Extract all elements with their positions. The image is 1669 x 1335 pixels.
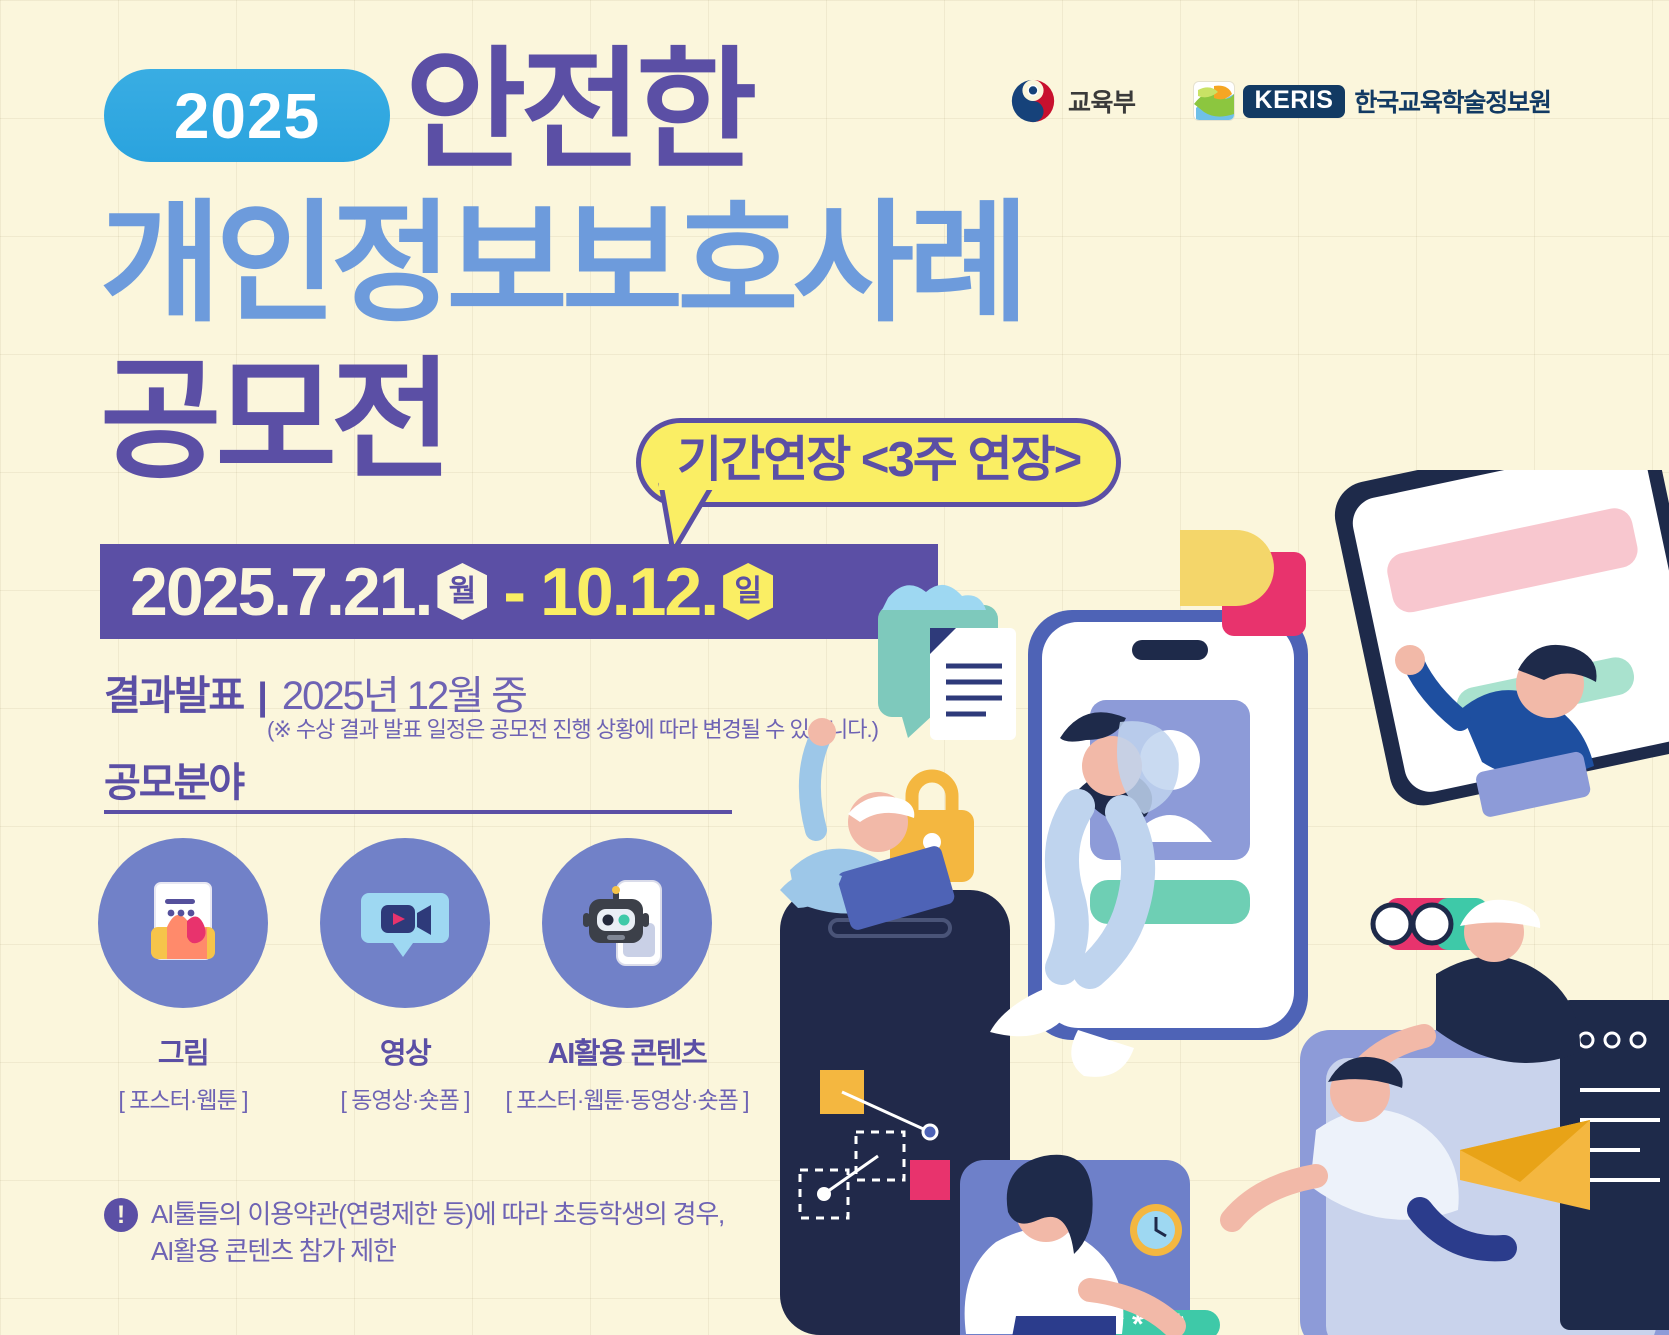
keris-logo: KERIS 한국교육학술정보원 <box>1194 82 1551 120</box>
field-label-drawing: 그림 <box>158 1030 208 1072</box>
start-date: 2025.7.21. <box>130 558 431 626</box>
document-chat-icon <box>878 585 1016 740</box>
warning-line-1: AI툴들의 이용약관(연령제한 등)에 따라 초등학생의 경우, <box>151 1199 724 1229</box>
logo-row: 교육부 KERIS 한국교육학술정보원 <box>1010 78 1551 124</box>
field-card-video: 영상 [ 동영상·숏폼 ] <box>320 838 490 1115</box>
result-label: 결과발표 <box>104 663 243 721</box>
field-sub-drawing: [ 포스터·웹툰 ] <box>118 1081 247 1115</box>
headline-line-3: 공모전 <box>100 355 446 487</box>
field-sub-video: [ 동영상·숏폼 ] <box>340 1081 469 1115</box>
ministry-of-education-logo: 교육부 <box>1010 78 1136 124</box>
taegeuk-icon <box>1010 78 1056 124</box>
exclamation-icon: ! <box>104 1198 138 1232</box>
year-label: 2025 <box>174 84 320 148</box>
keris-mark-icon <box>1194 82 1234 120</box>
video-camera-icon <box>320 838 490 1008</box>
illustration: * * * * <box>760 470 1669 1335</box>
keris-name-label: 한국교육학술정보원 <box>1354 83 1550 119</box>
ai-robot-phone-icon <box>542 838 712 1008</box>
keris-badge-label: KERIS <box>1243 85 1346 118</box>
fields-divider <box>104 810 732 814</box>
headline-line-1: 안전한 <box>405 45 751 177</box>
field-sub-ai: [ 포스터·웹툰·동영상·숏폼 ] <box>505 1081 748 1115</box>
poster-webtoon-icon <box>98 838 268 1008</box>
warning-note: ! AI툴들의 이용약관(연령제한 등)에 따라 초등학생의 경우, AI활용 … <box>104 1196 724 1270</box>
end-date: 10.12. <box>540 558 717 626</box>
start-weekday-badge: 월 <box>437 563 487 620</box>
field-card-ai: AI활용 콘텐츠 [ 포스터·웹툰·동영상·숏폼 ] <box>542 838 712 1115</box>
date-dash: - <box>503 558 526 626</box>
fields-card-row: 그림 [ 포스터·웹툰 ] 영상 [ 동영상·숏폼 ] <box>98 838 712 1115</box>
field-label-video: 영상 <box>380 1030 430 1072</box>
clock-icon-2 <box>1130 1204 1182 1256</box>
poster-root: 교육부 KERIS 한국교육학술정보원 2025 안전한 개인정보보호사례 공모… <box>0 0 1669 1335</box>
warning-line-2: AI활용 콘텐츠 참가 제한 <box>151 1236 396 1266</box>
year-badge: 2025 <box>104 69 390 162</box>
fields-title: 공모분야 <box>104 750 243 808</box>
ministry-name-label: 교육부 <box>1068 83 1136 119</box>
field-card-drawing: 그림 [ 포스터·웹툰 ] <box>98 838 268 1115</box>
field-label-ai: AI활용 콘텐츠 <box>548 1030 706 1072</box>
headline-line-2: 개인정보보호사례 <box>100 198 1024 330</box>
